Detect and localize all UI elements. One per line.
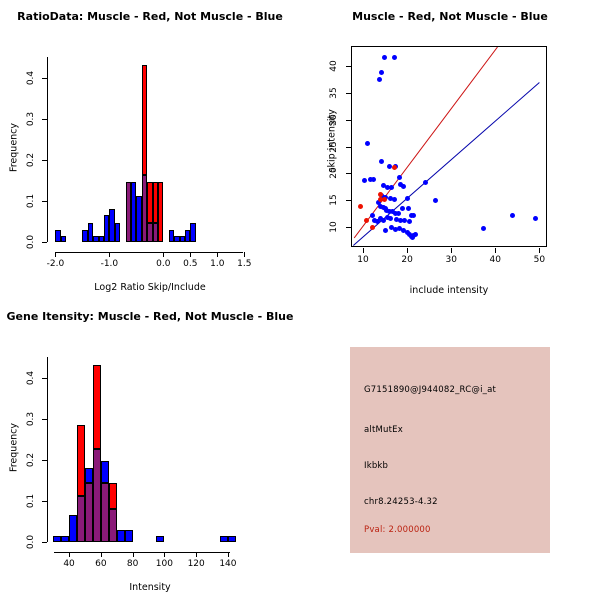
y-tick-label: 0.3	[24, 407, 38, 431]
y-tick-label: 40	[327, 54, 341, 78]
gene-info-locus: chr8.24253-4.32	[364, 497, 438, 507]
gene-info-background: G7151890@J944082_RC@i_at altMutEx Ikbkb …	[350, 347, 550, 553]
gene-hist-plot-area	[50, 357, 247, 542]
gene-info-pval: Pval: 2.000000	[364, 525, 431, 535]
y-tick	[346, 120, 351, 121]
gene-hist-bars	[50, 357, 247, 542]
gene-hist-y-axis-title: Frequency	[9, 418, 20, 478]
scatter-point	[392, 165, 397, 170]
x-tick	[164, 552, 165, 557]
gene-hist-x-axis-title: Intensity	[50, 582, 250, 593]
scatter-point	[370, 225, 375, 230]
y-tick-label: 0.3	[24, 107, 38, 131]
histogram-bar	[125, 530, 133, 542]
scatter-point	[388, 216, 393, 221]
panel-gene-info: G7151890@J944082_RC@i_at altMutEx Ikbkb …	[300, 300, 600, 600]
x-tick	[244, 252, 245, 257]
scatter-point	[423, 180, 428, 185]
x-tick	[228, 552, 229, 557]
scatter-point	[392, 55, 397, 60]
x-tick	[217, 252, 218, 257]
y-tick-label: 35	[327, 81, 341, 105]
histogram-bar	[228, 536, 236, 542]
histogram-bar	[158, 182, 163, 242]
x-tick-label: 50	[521, 255, 557, 265]
scatter-point	[382, 197, 387, 202]
histogram-bar-overlap	[77, 496, 85, 542]
y-tick	[346, 200, 351, 201]
y-tick-label: 15	[327, 188, 341, 212]
ratio-hist-x-axis	[55, 252, 243, 253]
scatter-point	[362, 178, 367, 183]
x-tick-label: 60	[83, 559, 119, 569]
scatter-point	[510, 213, 515, 218]
gene-hist-y-axis	[47, 357, 48, 542]
x-tick	[363, 248, 364, 253]
histogram-bar-overlap	[93, 449, 101, 542]
histogram-bar	[53, 536, 61, 542]
scatter-point	[379, 159, 384, 164]
y-tick	[42, 78, 47, 79]
scatter-point	[433, 198, 438, 203]
y-tick	[42, 460, 47, 461]
histogram-bar	[115, 223, 120, 242]
scatter-point	[405, 196, 410, 201]
y-tick-label: 0.4	[24, 366, 38, 390]
y-tick	[42, 419, 47, 420]
ratio-hist-y-axis-title: Frequency	[9, 118, 20, 178]
x-tick	[451, 248, 452, 253]
x-tick	[190, 252, 191, 257]
scatter-point	[407, 219, 412, 224]
scatter-point	[382, 55, 387, 60]
histogram-bar	[156, 536, 164, 542]
x-tick	[69, 552, 70, 557]
ratio-hist-y-axis	[47, 57, 48, 242]
gene-info-probe-id: G7151890@J944082_RC@i_at	[364, 385, 496, 395]
x-tick	[55, 252, 56, 257]
scatter-title: Muscle - Red, Not Muscle - Blue	[300, 10, 600, 23]
y-tick-label: 0.2	[24, 148, 38, 172]
histogram-bar	[69, 515, 77, 542]
scatter-point	[383, 228, 388, 233]
histogram-bar	[220, 536, 228, 542]
x-tick-label: 1.5	[226, 259, 262, 269]
scatter-point	[397, 175, 402, 180]
ratio-hist-bars	[50, 57, 247, 242]
x-tick-label: -1.0	[91, 259, 127, 269]
histogram-bar	[101, 461, 109, 483]
y-tick-label: 0.2	[24, 448, 38, 472]
histogram-bar	[109, 483, 117, 508]
y-tick	[42, 378, 47, 379]
y-tick	[42, 201, 47, 202]
y-tick	[346, 173, 351, 174]
x-tick-label: 30	[433, 255, 469, 265]
x-tick-label: 40	[51, 559, 87, 569]
x-tick	[133, 552, 134, 557]
y-tick	[346, 93, 351, 94]
x-tick-label: 20	[389, 255, 425, 265]
histogram-bar	[61, 536, 69, 542]
scatter-point	[533, 216, 538, 221]
histogram-bar	[93, 365, 101, 449]
x-tick-label: 120	[178, 559, 214, 569]
x-tick-label: -2.0	[37, 259, 73, 269]
scatter-point	[401, 184, 406, 189]
histogram-bar-overlap	[85, 483, 93, 542]
figure-canvas: RatioData: Muscle - Red, Not Muscle - Bl…	[0, 0, 600, 600]
x-tick	[196, 552, 197, 557]
scatter-y-axis-title: skip intensity	[327, 113, 338, 173]
scatter-point	[377, 77, 382, 82]
scatter-x-axis-title: include intensity	[351, 285, 547, 296]
histogram-bar	[85, 468, 93, 483]
gene-info-gene-symbol: Ikbkb	[364, 461, 388, 471]
panel-ratio-histogram: RatioData: Muscle - Red, Not Muscle - Bl…	[0, 0, 300, 300]
scatter-point	[358, 204, 363, 209]
y-tick-label: 0.0	[24, 530, 38, 554]
scatter-point	[411, 213, 416, 218]
scatter-point	[387, 164, 392, 169]
panel-intensity-scatter: Muscle - Red, Not Muscle - Blue 10152025…	[300, 0, 600, 300]
y-tick	[42, 501, 47, 502]
scatter-point	[413, 232, 418, 237]
y-tick	[42, 242, 47, 243]
scatter-point	[406, 206, 411, 211]
x-tick	[407, 248, 408, 253]
y-tick-label: 0.1	[24, 189, 38, 213]
histogram-bar	[190, 223, 195, 242]
x-tick	[101, 552, 102, 557]
scatter-point	[364, 218, 369, 223]
y-tick	[346, 147, 351, 148]
y-tick-label: 0.4	[24, 66, 38, 90]
x-tick-label: 80	[115, 559, 151, 569]
y-tick-label: 0.0	[24, 230, 38, 254]
scatter-point	[371, 177, 376, 182]
y-tick	[346, 227, 351, 228]
scatter-point	[389, 185, 394, 190]
y-tick-label: 10	[327, 215, 341, 239]
scatter-point	[379, 70, 384, 75]
y-tick-label: 0.1	[24, 489, 38, 513]
gene-hist-x-axis	[54, 552, 230, 553]
scatter-point	[402, 218, 407, 223]
scatter-point	[400, 206, 405, 211]
ratio-hist-plot-area	[50, 57, 247, 242]
histogram-bar-overlap	[109, 509, 117, 542]
scatter-plot-area	[351, 46, 547, 247]
histogram-bar	[77, 425, 85, 496]
ratio-hist-title: RatioData: Muscle - Red, Not Muscle - Bl…	[0, 10, 300, 23]
histogram-bar	[142, 65, 147, 175]
scatter-points	[352, 47, 546, 246]
histogram-bar	[117, 530, 125, 542]
x-tick-label: 10	[345, 255, 381, 265]
histogram-bar	[61, 236, 66, 242]
y-tick	[42, 542, 47, 543]
panel-gene-intensity-histogram: Gene Itensity: Muscle - Red, Not Muscle …	[0, 300, 300, 600]
gene-hist-title: Gene Itensity: Muscle - Red, Not Muscle …	[0, 310, 300, 323]
x-tick	[539, 248, 540, 253]
y-tick	[42, 119, 47, 120]
scatter-point	[365, 141, 370, 146]
scatter-point	[392, 197, 397, 202]
x-tick-label: 40	[477, 255, 513, 265]
y-tick	[346, 66, 351, 67]
scatter-point	[396, 211, 401, 216]
histogram-bar-overlap	[101, 483, 109, 542]
y-tick	[42, 160, 47, 161]
x-tick	[163, 252, 164, 257]
x-tick-label: 100	[146, 559, 182, 569]
gene-info-event-type: altMutEx	[364, 425, 403, 435]
x-tick	[495, 248, 496, 253]
scatter-point	[481, 226, 486, 231]
x-tick-label: 140	[210, 559, 246, 569]
ratio-hist-x-axis-title: Log2 Ratio Skip/Include	[50, 282, 250, 293]
x-tick	[109, 252, 110, 257]
